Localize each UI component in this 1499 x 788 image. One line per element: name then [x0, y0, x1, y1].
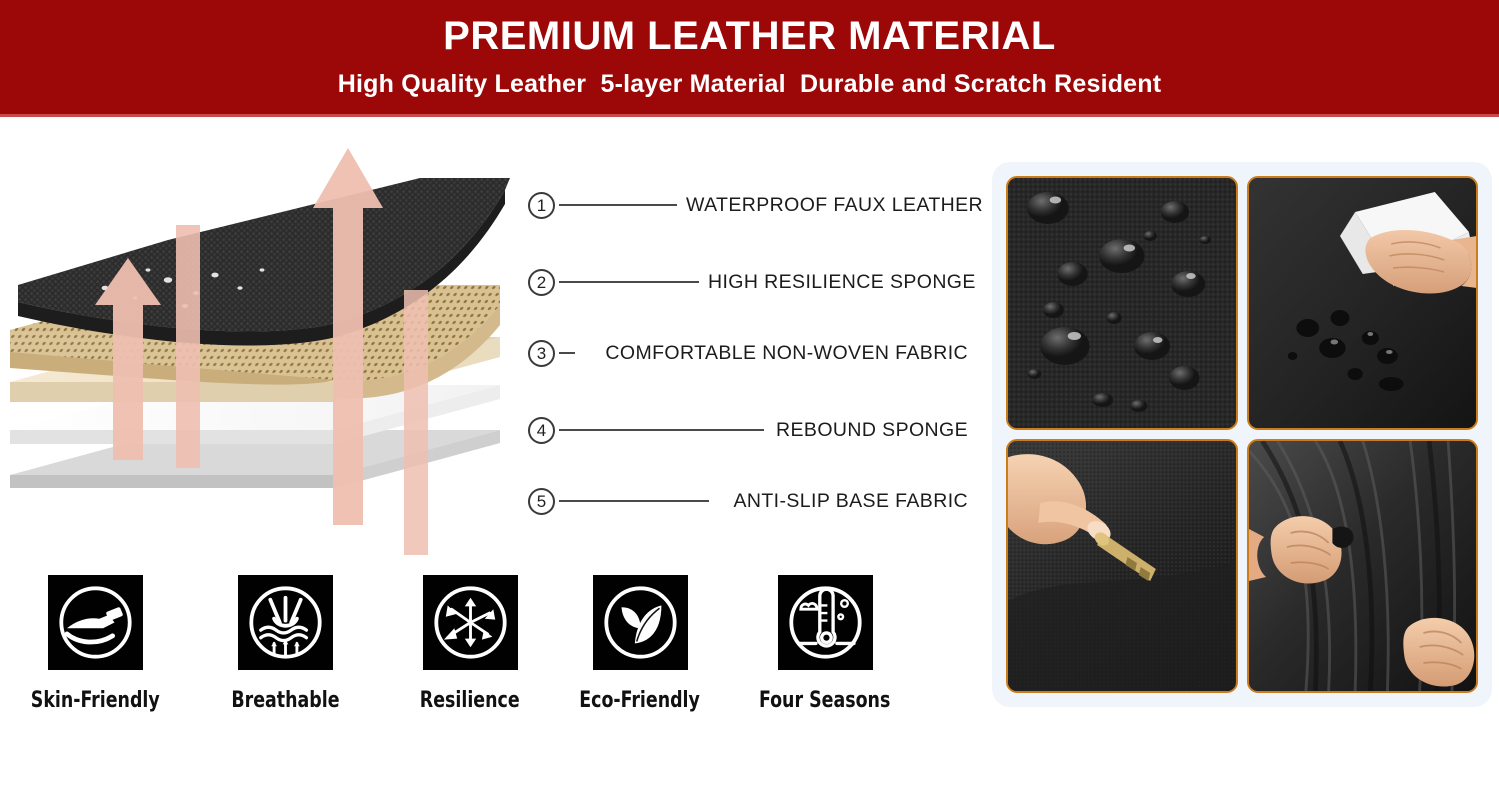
callout-number-badge: 5 — [528, 488, 555, 515]
callout-label: REBOUND SPONGE — [776, 419, 968, 442]
callout-connector-line — [559, 281, 699, 283]
header-banner: PREMIUM LEATHER MATERIAL High Quality Le… — [0, 0, 1499, 117]
feature-label: Skin-Friendly — [31, 688, 160, 713]
page-subtitle: High Quality Leather 5-layer Material Du… — [338, 70, 1162, 99]
stretch-test-two-hands-photo — [1247, 439, 1479, 693]
photo-grid — [1006, 176, 1478, 693]
callout-number-badge: 2 — [528, 269, 555, 296]
callout-row: 3 COMFORTABLE NON-WOVEN FABRIC — [528, 338, 968, 368]
callout-connector-line — [559, 352, 575, 354]
callout-list: 1 WATERPROOF FAUX LEATHER 2 HIGH RESILIE… — [528, 190, 968, 520]
callout-connector-line — [559, 429, 764, 431]
callout-connector-line — [559, 500, 709, 502]
hand-with-cloth-icon — [48, 575, 143, 670]
breathable-waves-icon — [238, 575, 333, 670]
feature-item-eco-friendly: Eco-Friendly — [575, 575, 705, 713]
multi-arrows-icon — [423, 575, 518, 670]
photo-grid-panel — [992, 162, 1492, 707]
wiping-spill-with-tissue-photo — [1247, 176, 1479, 430]
callout-number-badge: 4 — [528, 417, 555, 444]
water-beading-on-leather-photo — [1006, 176, 1238, 430]
callout-row: 1 WATERPROOF FAUX LEATHER — [528, 190, 968, 220]
feature-item-skin-friendly: Skin-Friendly — [30, 575, 160, 713]
callout-label: WATERPROOF FAUX LEATHER — [686, 194, 983, 217]
callout-row: 2 HIGH RESILIENCE SPONGE — [528, 267, 968, 297]
feature-label: Eco-Friendly — [580, 688, 701, 713]
page-title: PREMIUM LEATHER MATERIAL — [443, 15, 1056, 57]
callout-label: ANTI-SLIP BASE FABRIC — [733, 490, 968, 513]
callout-label: HIGH RESILIENCE SPONGE — [708, 271, 976, 294]
callout-number-badge: 3 — [528, 340, 555, 367]
callout-connector-line — [559, 204, 677, 206]
callout-label: COMFORTABLE NON-WOVEN FABRIC — [605, 342, 968, 365]
scratch-test-with-key-photo — [1006, 439, 1238, 693]
feature-icon-row: Skin-Friendly Breathable — [0, 575, 960, 745]
feature-item-four-seasons: Four Seasons — [760, 575, 890, 713]
callout-row: 5 ANTI-SLIP BASE FABRIC — [528, 486, 968, 516]
feature-item-breathable: Breathable — [220, 575, 350, 713]
feature-item-resilience: Resilience — [405, 575, 535, 713]
feature-label: Resilience — [420, 688, 520, 713]
feature-label: Four Seasons — [759, 688, 890, 713]
callout-number-badge: 1 — [528, 192, 555, 219]
thermometer-icon — [778, 575, 873, 670]
leaf-icon — [593, 575, 688, 670]
feature-label: Breathable — [231, 688, 339, 713]
callout-row: 4 REBOUND SPONGE — [528, 415, 968, 445]
layer-diagram — [0, 130, 520, 555]
